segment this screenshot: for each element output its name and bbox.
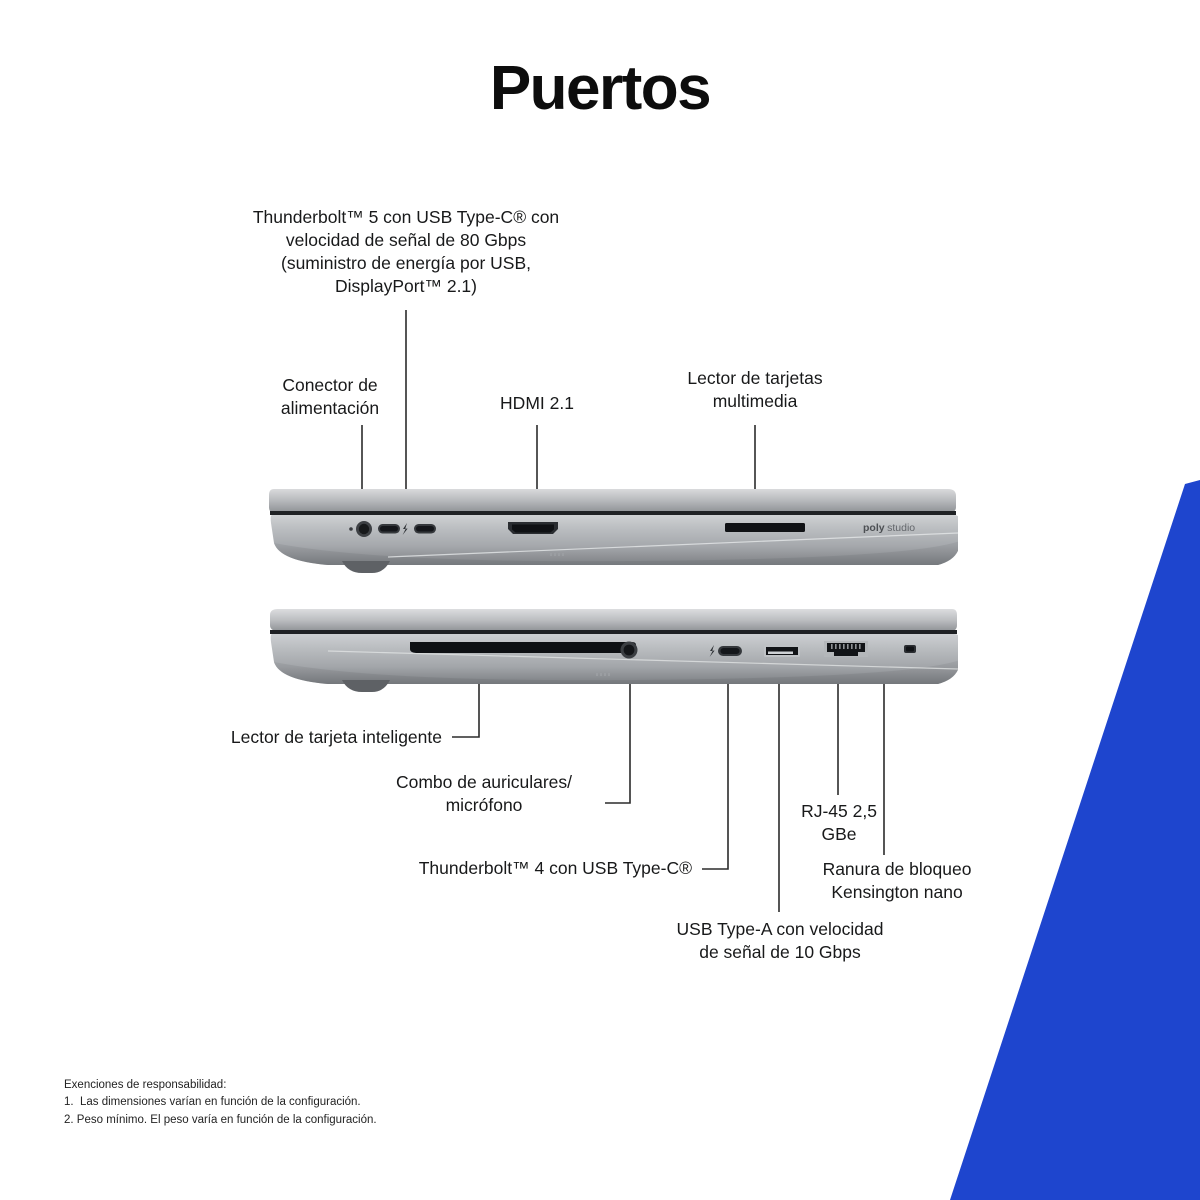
callout-rj45: RJ-45 2,5 GBe: [768, 800, 910, 846]
usb-c-port-inner: [721, 648, 740, 654]
callout-thunderbolt-4: Thunderbolt™ 4 con USB Type-C®: [330, 857, 692, 880]
smart-card-reader-slot[interactable]: [410, 642, 636, 653]
laptop-foot: [342, 680, 390, 692]
callout-kensington-nano: Ranura de bloqueo Kensington nano: [790, 858, 1004, 904]
laptop-hinge-seam: [270, 630, 957, 634]
laptop-side-view-right-ports: [268, 607, 958, 703]
kensington-nano-slot-inner: [906, 647, 914, 652]
usb-c-port-2-inner: [416, 526, 434, 532]
usb-c-port-1-inner: [380, 526, 398, 532]
brand-poly: poly: [863, 522, 885, 534]
power-connector-inner: [359, 524, 369, 534]
hdmi-port-inner: [512, 525, 554, 533]
laptop-lid: [270, 609, 957, 631]
laptop-lid: [269, 489, 956, 513]
disclaimer-heading: Exenciones de responsabilidad:: [64, 1077, 377, 1094]
ports-infographic: Puertos: [0, 0, 1200, 1200]
laptop-foot: [342, 561, 390, 573]
callout-usb-type-a: USB Type-A con velocidad de señal de 10 …: [648, 918, 912, 964]
callout-hdmi: HDMI 2.1: [457, 392, 617, 415]
laptop-side-view-left-ports: polystudio: [268, 487, 958, 583]
callout-smart-card-reader: Lector de tarjeta inteligente: [110, 726, 442, 749]
callout-power-connector: Conector de alimentación: [245, 374, 415, 420]
disclaimer-block: Exenciones de responsabilidad: 1. Las di…: [64, 1077, 377, 1129]
page-title: Puertos: [0, 56, 1200, 121]
disclaimer-item-2: 2. Peso mínimo. El peso varía en función…: [64, 1112, 377, 1129]
callout-thunderbolt-5: Thunderbolt™ 5 con USB Type-C® con veloc…: [222, 206, 590, 298]
usb-a-port-tongue: [768, 652, 793, 655]
blue-corner-wedge: [0, 0, 1200, 1200]
brand-studio: studio: [887, 522, 915, 534]
media-card-reader-slot[interactable]: [725, 523, 805, 532]
laptop-hinge-seam: [270, 511, 956, 515]
headphone-mic-jack-inner: [624, 645, 635, 656]
disclaimer-item-1: 1. Las dimensiones varían en función de …: [64, 1094, 377, 1111]
power-led-indicator: [349, 527, 353, 531]
poly-studio-brand-bold: polystudio: [863, 522, 915, 534]
leader-lines-layer: [0, 0, 1200, 1200]
disclaimer-list: 1. Las dimensiones varían en función de …: [64, 1094, 377, 1129]
callout-headphone-mic: Combo de auriculares/ micrófono: [370, 771, 598, 817]
callout-media-card-reader: Lector de tarjetas multimedia: [650, 367, 860, 413]
